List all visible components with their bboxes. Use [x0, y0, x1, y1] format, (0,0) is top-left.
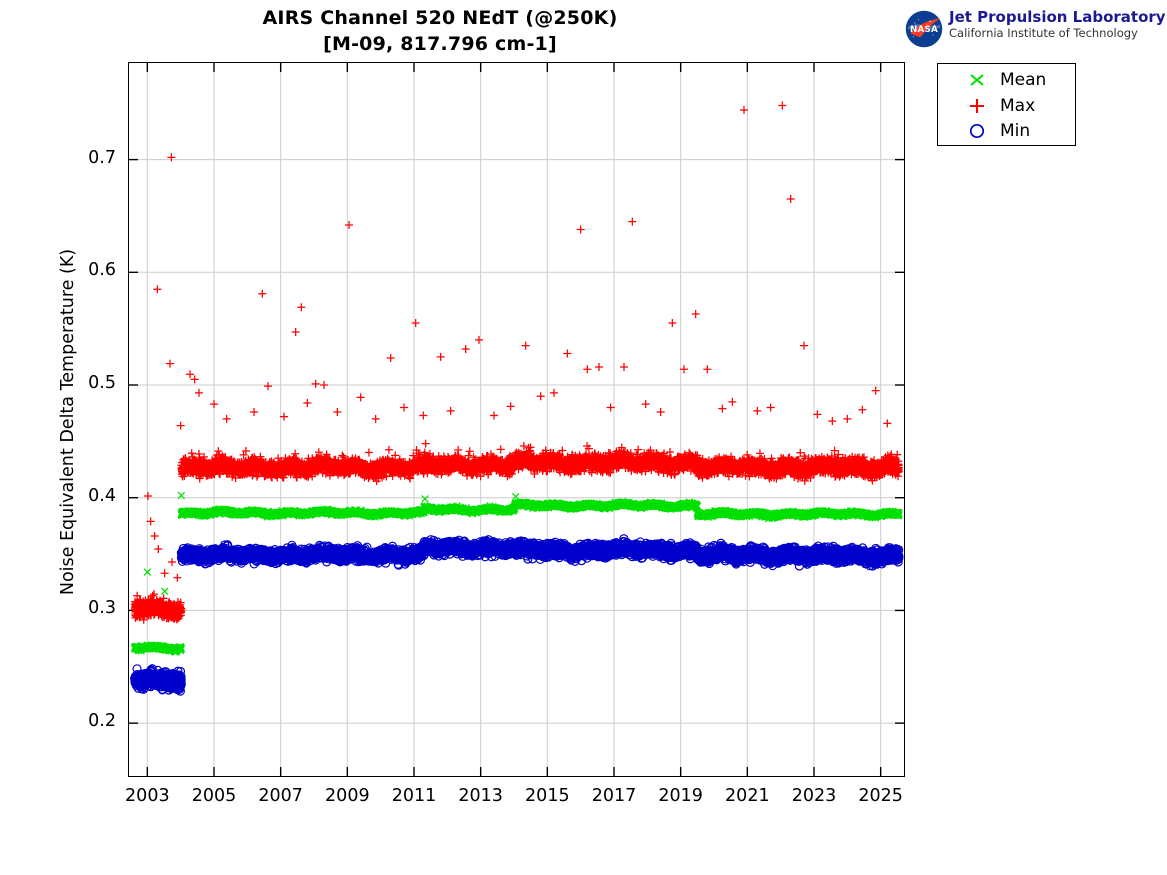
- nasa-jpl-logo: NASA Jet Propulsion Laboratory Californi…: [905, 8, 1160, 50]
- scatter-plot-canvas: [129, 63, 904, 776]
- y-tick-label-1: 0.3: [60, 598, 116, 618]
- x-tick-label-8: 2019: [646, 786, 716, 806]
- y-tick-label-3: 0.5: [60, 373, 116, 393]
- min-marker-circle-icon: [960, 118, 994, 144]
- jpl-title: Jet Propulsion Laboratory: [949, 8, 1159, 26]
- y-tick-label-0: 0.2: [60, 711, 116, 731]
- legend-label-mean: Mean: [1000, 67, 1046, 93]
- x-tick-label-0: 2003: [112, 786, 182, 806]
- y-tick-label-5: 0.7: [60, 148, 116, 168]
- chart-legend: Mean Max Min: [937, 63, 1076, 146]
- series-mean: [131, 492, 902, 655]
- plot-area: [128, 62, 905, 777]
- y-tick-label-4: 0.6: [60, 260, 116, 280]
- legend-entry-min: Min: [938, 118, 1077, 144]
- max-marker-plus-icon: [960, 93, 994, 119]
- x-tick-label-1: 2005: [179, 786, 249, 806]
- series-min: [131, 535, 903, 695]
- legend-entry-max: Max: [938, 93, 1077, 119]
- legend-entry-mean: Mean: [938, 67, 1077, 93]
- legend-label-min: Min: [1000, 118, 1030, 144]
- mean-marker-x-icon: [960, 67, 994, 93]
- x-tick-label-3: 2009: [312, 786, 382, 806]
- caltech-subtitle: California Institute of Technology: [949, 26, 1159, 41]
- jpl-wordmark: Jet Propulsion Laboratory California Ins…: [949, 8, 1159, 41]
- chart-page: AIRS Channel 520 NEdT (@250K) [M-09, 817…: [0, 0, 1167, 875]
- x-tick-label-2: 2007: [246, 786, 316, 806]
- x-tick-label-9: 2021: [712, 786, 782, 806]
- y-tick-label-2: 0.4: [60, 486, 116, 506]
- legend-label-max: Max: [1000, 93, 1035, 119]
- x-tick-label-4: 2011: [379, 786, 449, 806]
- chart-title-line-1: AIRS Channel 520 NEdT (@250K): [0, 5, 880, 31]
- x-tick-label-11: 2025: [846, 786, 916, 806]
- x-tick-label-10: 2023: [779, 786, 849, 806]
- nasa-meatball-icon: NASA: [905, 10, 943, 48]
- x-tick-label-7: 2017: [579, 786, 649, 806]
- chart-title: AIRS Channel 520 NEdT (@250K) [M-09, 817…: [0, 5, 880, 57]
- x-tick-label-5: 2013: [446, 786, 516, 806]
- x-tick-label-6: 2015: [512, 786, 582, 806]
- svg-text:NASA: NASA: [910, 25, 938, 35]
- chart-title-line-2: [M-09, 817.796 cm-1]: [0, 31, 880, 57]
